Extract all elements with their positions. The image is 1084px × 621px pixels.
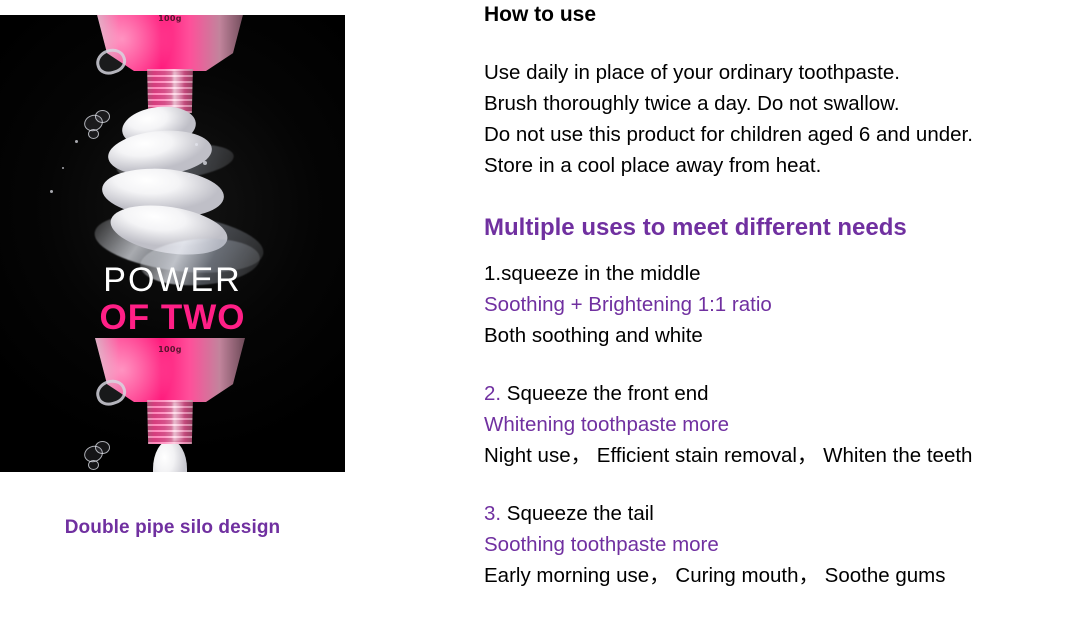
droplet-icon-6: [188, 175, 190, 177]
product-image: 100g POWER OF TWO: [0, 15, 345, 472]
spacer: [484, 471, 1080, 498]
spacer: [484, 351, 1080, 378]
use-item-1-subtitle: Soothing + Brightening 1:1 ratio: [484, 289, 1080, 320]
droplet-icon-1: [75, 140, 78, 143]
how-to-use-line-2: Brush thoroughly twice a day. Do not swa…: [484, 88, 1080, 119]
tube-weight-label-top: 100g: [95, 15, 245, 23]
wordmark-line-power: POWER: [0, 263, 345, 297]
use-item-3-title-row: 3. Squeeze the tail: [484, 498, 1080, 529]
how-to-use-heading: How to use: [484, 0, 1080, 30]
bubble-icon-5: [95, 441, 110, 454]
bubble-icon-3: [88, 129, 99, 139]
image-caption: Double pipe silo design: [0, 517, 345, 539]
poster-background: 100g POWER OF TWO: [0, 15, 345, 472]
droplet-icon-3: [50, 190, 53, 193]
use-item-2-subtitle: Whitening toothpaste more: [484, 409, 1080, 440]
droplet-icon-5: [203, 161, 207, 165]
poster-wordmark: POWER OF TWO: [0, 263, 345, 335]
use-item-2-number: 2.: [484, 382, 501, 405]
how-to-use-line-1: Use daily in place of your ordinary toot…: [484, 57, 1080, 88]
use-item-2: 2. Squeeze the front end Whitening tooth…: [484, 378, 1080, 471]
use-item-3-benefit: Early morning use， Curing mouth， Soothe …: [484, 560, 1080, 591]
bubble-icon-2: [95, 110, 110, 123]
wordmark-line-of-two: OF TWO: [0, 300, 345, 335]
droplet-icon-4: [195, 143, 198, 146]
how-to-use-line-4: Store in a cool place away from heat.: [484, 150, 1080, 181]
use-item-2-title: Squeeze the front end: [501, 382, 708, 405]
droplet-icon-2: [62, 167, 64, 169]
use-item-3: 3. Squeeze the tail Soothing toothpaste …: [484, 498, 1080, 591]
spacer: [484, 181, 1080, 212]
paste-blob-bottom: [153, 440, 187, 472]
how-to-use-line-3: Do not use this product for children age…: [484, 119, 1080, 150]
spacer: [484, 244, 1080, 258]
use-item-3-title: Squeeze the tail: [501, 502, 654, 525]
use-item-3-number: 3.: [484, 502, 501, 525]
toothpaste-tube-bottom: 100g: [95, 338, 245, 472]
multiple-uses-heading: Multiple uses to meet different needs: [484, 212, 1080, 244]
use-item-2-title-row: 2. Squeeze the front end: [484, 378, 1080, 409]
use-item-2-benefit: Night use， Efficient stain removal， Whit…: [484, 440, 1080, 471]
use-item-1: 1.squeeze in the middle Soothing + Brigh…: [484, 258, 1080, 351]
use-item-1-title-row: 1.squeeze in the middle: [484, 258, 1080, 289]
tube-neck-bottom: [144, 400, 196, 444]
instructions-panel: How to use Use daily in place of your or…: [484, 0, 1080, 621]
use-item-3-subtitle: Soothing toothpaste more: [484, 529, 1080, 560]
use-item-1-title: 1.squeeze in the middle: [484, 262, 701, 285]
tube-weight-label-bottom: 100g: [95, 345, 245, 354]
use-item-1-benefit: Both soothing and white: [484, 320, 1080, 351]
spacer: [484, 30, 1080, 57]
bubble-icon-6: [88, 460, 99, 470]
